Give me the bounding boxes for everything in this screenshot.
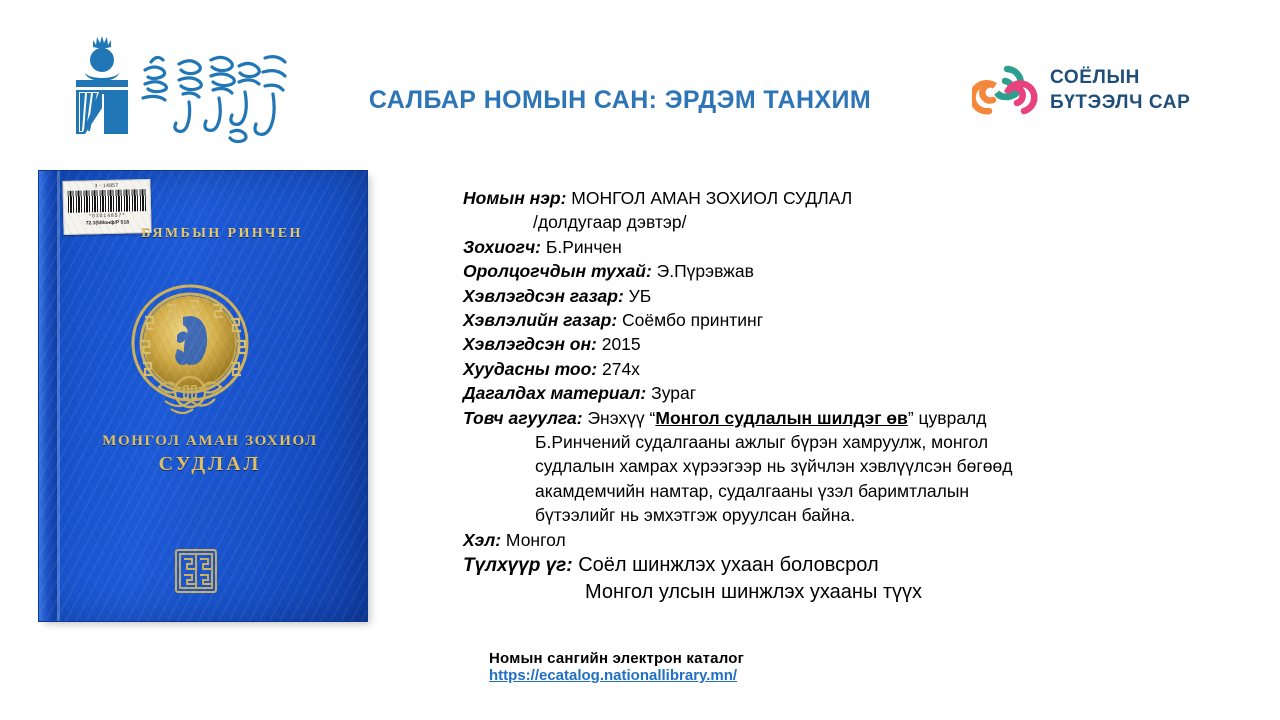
record-abstract-line-2: судлалын хамрах хүрээгээр нь зүйчлэн хэв…: [463, 454, 1083, 478]
culture-month-line1: СОЁЛЫН: [1050, 65, 1200, 90]
record-publisher-value: Соёмбо принтинг: [622, 310, 763, 330]
record-contributors-row: Оролцогчдын тухай: Э.Пүрэвжав: [463, 259, 1083, 283]
record-pages-row: Хуудасны тоо: 274х: [463, 357, 1083, 381]
catalog-footer: Номын сангийн электрон каталог https://e…: [489, 650, 909, 685]
national-library-logo: [55, 26, 290, 148]
record-contributors-value: Э.Пүрэвжав: [657, 261, 754, 281]
record-pages-value: 274х: [602, 359, 640, 379]
record-title-value: МОНГОЛ АМАН ЗОХИОЛ СУДЛАЛ: [571, 188, 852, 208]
book-cover-title: МОНГОЛ АМАН ЗОХИОЛ СУДЛАЛ: [39, 433, 367, 476]
record-language-value: Монгол: [506, 530, 566, 550]
book-cover-title-line2: СУДЛАЛ: [53, 453, 367, 476]
national-library-emblem-icon: [63, 30, 141, 142]
culture-creative-month-logo: СОЁЛЫН БҮТЭЭЛЧ САР: [968, 55, 1200, 135]
catalog-url-link[interactable]: https://ecatalog.nationallibrary.mn/: [489, 667, 737, 684]
barcode-bars-icon: [68, 189, 146, 213]
record-abstract-after-series: ” цувралд: [908, 408, 987, 428]
record-place-value: УБ: [629, 286, 652, 306]
record-contributors-label: Оролцогчдын тухай:: [463, 261, 652, 281]
book-cover-photo: 3 - 14857 *03014857* 72.3(5Монф/Р 518 БЯ…: [38, 170, 370, 624]
record-place-label: Хэвлэгдсэн газар:: [463, 286, 624, 306]
mongolian-seal-icon: [173, 547, 219, 595]
record-year-row: Хэвлэгдсэн он: 2015: [463, 332, 1083, 356]
book-front-cover: 3 - 14857 *03014857* 72.3(5Монф/Р 518 БЯ…: [38, 170, 368, 622]
record-abstract-line-1: Б.Ринчений судалгааны ажлыг бүрэн хамруу…: [463, 430, 1083, 454]
record-language-label: Хэл:: [463, 530, 501, 550]
record-author-label: Зохиогч:: [463, 237, 541, 257]
record-publisher-row: Хэвлэлийн газар: Соёмбо принтинг: [463, 308, 1083, 332]
record-language-row: Хэл: Монгол: [463, 528, 1083, 552]
record-abstract-series-title: Монгол судлалын шилдэг өв: [655, 408, 907, 428]
record-title-label: Номын нэр:: [463, 188, 566, 208]
record-material-value: Зураг: [651, 383, 696, 403]
triskelion-swirl-icon: [972, 59, 1042, 129]
record-abstract-intro: Энэхүү “: [587, 408, 655, 428]
record-pages-label: Хуудасны тоо:: [463, 359, 597, 379]
record-title-subline: /долдугаар дэвтэр/: [463, 210, 1083, 234]
record-year-value: 2015: [602, 334, 641, 354]
record-keywords-value-2: Монгол улсын шинжлэх ухааны түүх: [463, 579, 1083, 606]
book-record-details: Номын нэр: МОНГОЛ АМАН ЗОХИОЛ СУДЛАЛ /до…: [463, 186, 1083, 606]
gold-medallion-emblem-icon: [115, 283, 265, 425]
page-header: САЛБАР НОМЫН САН: ЭРДЭМ ТАНХИМ СОЁЛЫН БҮ…: [0, 0, 1280, 155]
record-publisher-label: Хэвлэлийн газар:: [463, 310, 617, 330]
record-year-label: Хэвлэгдсэн он:: [463, 334, 597, 354]
record-abstract-label: Товч агуулга:: [463, 408, 583, 428]
culture-month-line2: БҮТЭЭЛЧ САР: [1050, 90, 1200, 115]
record-author-row: Зохиогч: Б.Ринчен: [463, 235, 1083, 259]
page-title: САЛБАР НОМЫН САН: ЭРДЭМ ТАНХИМ: [320, 86, 920, 115]
record-abstract-line-4: бүтээлийг нь эмхэтгэж оруулсан байна.: [463, 503, 1083, 527]
book-cover-title-line1: МОНГОЛ АМАН ЗОХИОЛ: [53, 433, 367, 450]
record-keywords-value-1: Соёл шинжлэх ухаан боловсрол: [578, 554, 878, 576]
record-keywords-label: Түлхүүр үг:: [463, 555, 573, 576]
record-material-label: Дагалдах материал:: [463, 383, 646, 403]
record-keywords-row: Түлхүүр үг: Соёл шинжлэх ухаан боловсрол: [463, 552, 1083, 579]
catalog-caption: Номын сангийн электрон каталог: [489, 650, 909, 667]
culture-month-wordmark: СОЁЛЫН БҮТЭЭЛЧ САР: [1050, 65, 1200, 115]
record-title-row: Номын нэр: МОНГОЛ АМАН ЗОХИОЛ СУДЛАЛ: [463, 186, 1083, 210]
record-abstract-row: Товч агуулга: Энэхүү “Монгол судлалын ши…: [463, 406, 1083, 430]
record-place-row: Хэвлэгдсэн газар: УБ: [463, 284, 1083, 308]
record-abstract-line-3: акамдемчийн намтар, судалгааны үзэл бари…: [463, 479, 1083, 503]
record-author-value: Б.Ринчен: [546, 237, 622, 257]
book-cover-author: БЯМБЫН РИНЧЕН: [39, 226, 367, 242]
mongolian-script-wordmark-icon: [133, 44, 293, 152]
record-material-row: Дагалдах материал: Зураг: [463, 381, 1083, 405]
